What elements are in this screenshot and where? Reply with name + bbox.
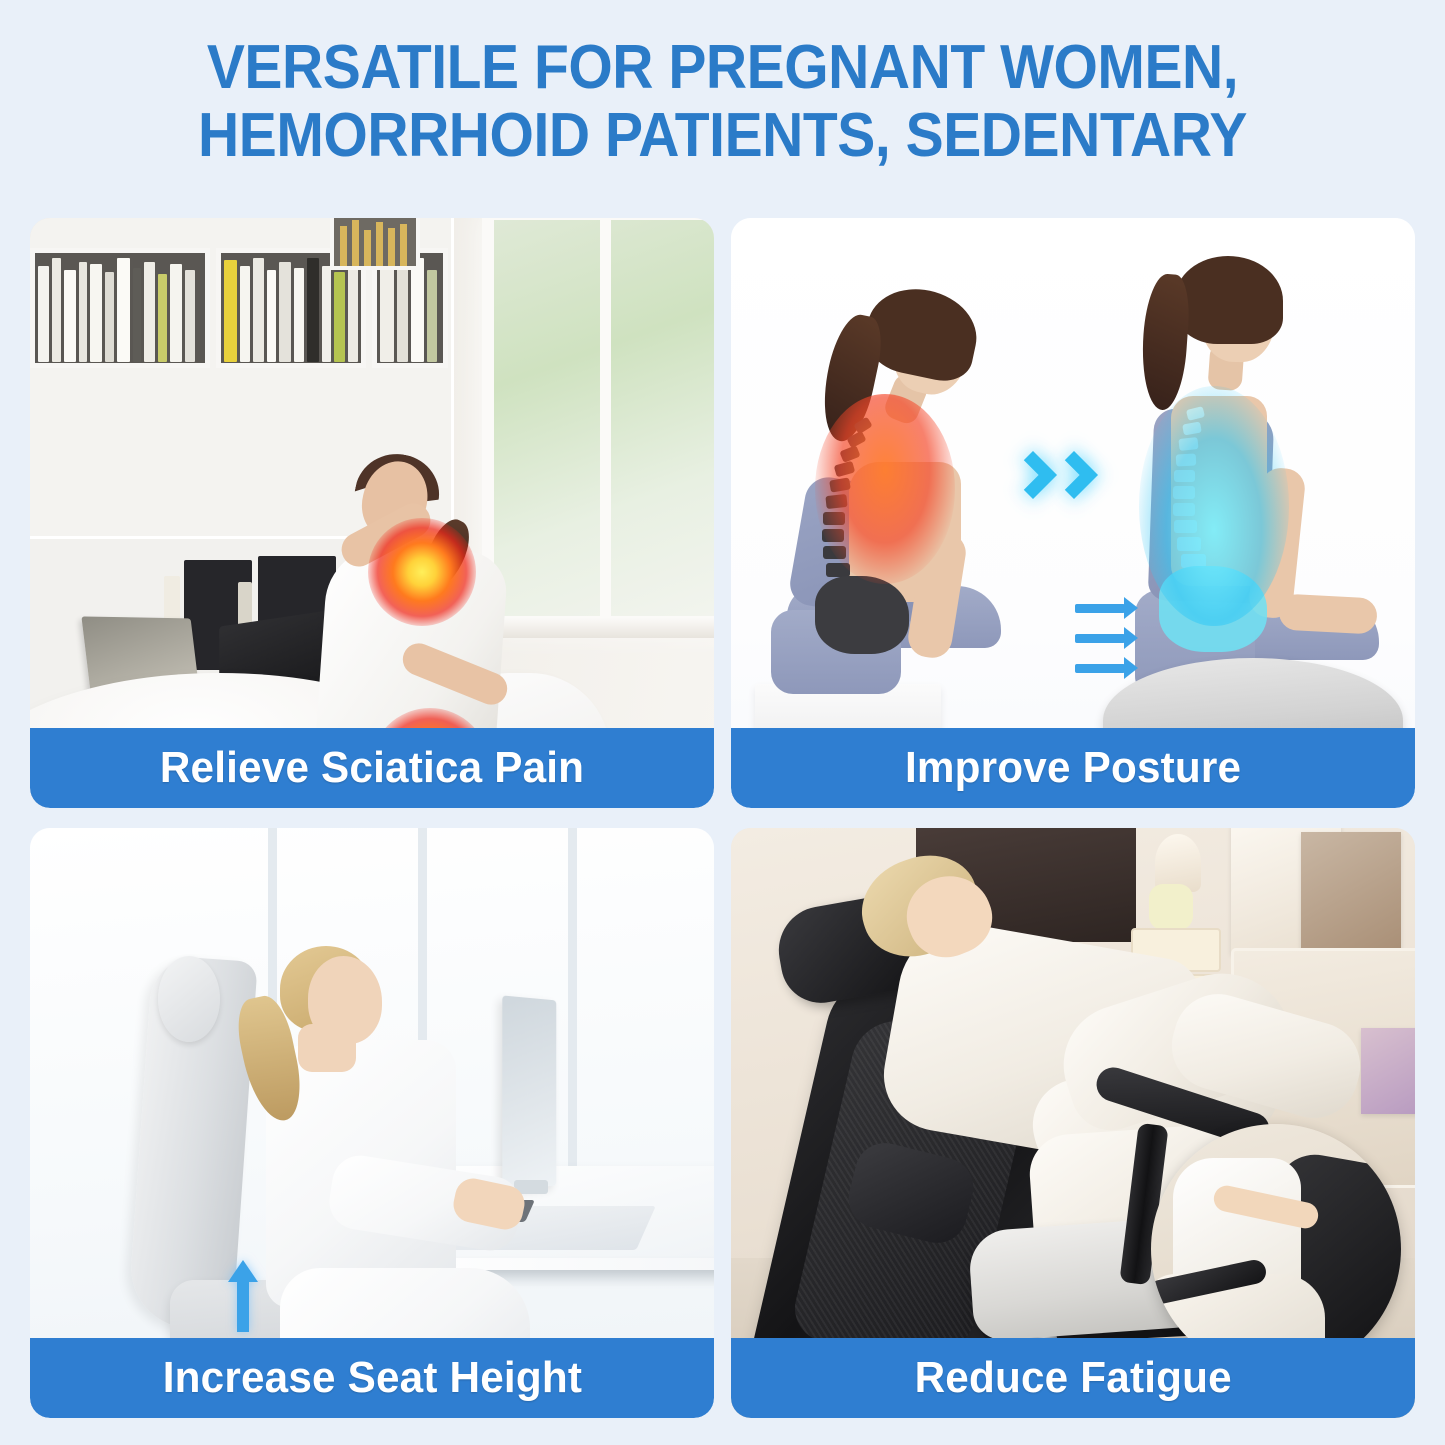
support-arrow bbox=[1075, 634, 1125, 643]
picture-frame bbox=[1301, 832, 1401, 952]
panel-relieve-sciatica-pain[interactable]: Relieve Sciatica Pain bbox=[30, 218, 714, 808]
pelvis-bone bbox=[815, 576, 909, 654]
spine-pain-glow bbox=[815, 394, 955, 584]
feature-panel-grid: Relieve Sciatica Pain bbox=[30, 218, 1415, 1418]
scene-reclining-chair bbox=[731, 828, 1415, 1418]
picture-frame bbox=[1361, 1028, 1415, 1114]
caption-bar: Improve Posture bbox=[731, 728, 1415, 808]
shelf-cell bbox=[30, 248, 210, 368]
caption-text: Reduce Fatigue bbox=[914, 1353, 1231, 1403]
hand bbox=[1278, 593, 1378, 634]
monitor bbox=[502, 995, 556, 1190]
spine-aligned-glow bbox=[1139, 386, 1289, 626]
support-arrow bbox=[1075, 604, 1125, 613]
caption-text: Increase Seat Height bbox=[162, 1353, 581, 1403]
pain-hotspot-neck bbox=[368, 518, 476, 626]
trophy-shelf bbox=[330, 218, 420, 270]
caption-text: Improve Posture bbox=[905, 743, 1241, 793]
caption-text: Relieve Sciatica Pain bbox=[160, 743, 584, 793]
arrow-up-icon bbox=[228, 1260, 258, 1332]
title-line-1: VERSATILE FOR PREGNANT WOMEN, bbox=[58, 34, 1387, 102]
inset-no-cushion-example bbox=[1151, 1124, 1401, 1374]
chair-headrest bbox=[158, 956, 220, 1042]
panel-increase-seat-height[interactable]: Increase Seat Height bbox=[30, 828, 714, 1418]
support-arrow bbox=[1075, 664, 1125, 673]
window bbox=[482, 218, 714, 628]
caption-bar: Relieve Sciatica Pain bbox=[30, 728, 714, 808]
person-neck bbox=[298, 1024, 356, 1072]
panel-reduce-fatigue[interactable]: Reduce Fatigue bbox=[731, 828, 1415, 1418]
caption-bar: Increase Seat Height bbox=[30, 1338, 714, 1418]
panel-improve-posture[interactable]: Improve Posture bbox=[731, 218, 1415, 808]
window-mullion bbox=[568, 828, 577, 1178]
scene-seat-height bbox=[30, 828, 714, 1418]
title-line-2: HEMORRHOID PATIENTS, SEDENTARY bbox=[58, 102, 1387, 170]
hair bbox=[1175, 256, 1283, 344]
caption-bar: Reduce Fatigue bbox=[731, 1338, 1415, 1418]
scene-office-pain bbox=[30, 218, 714, 808]
plush-toy bbox=[1149, 884, 1193, 930]
page-title: VERSATILE FOR PREGNANT WOMEN, HEMORRHOID… bbox=[0, 34, 1445, 170]
scene-posture-comparison bbox=[731, 218, 1415, 808]
